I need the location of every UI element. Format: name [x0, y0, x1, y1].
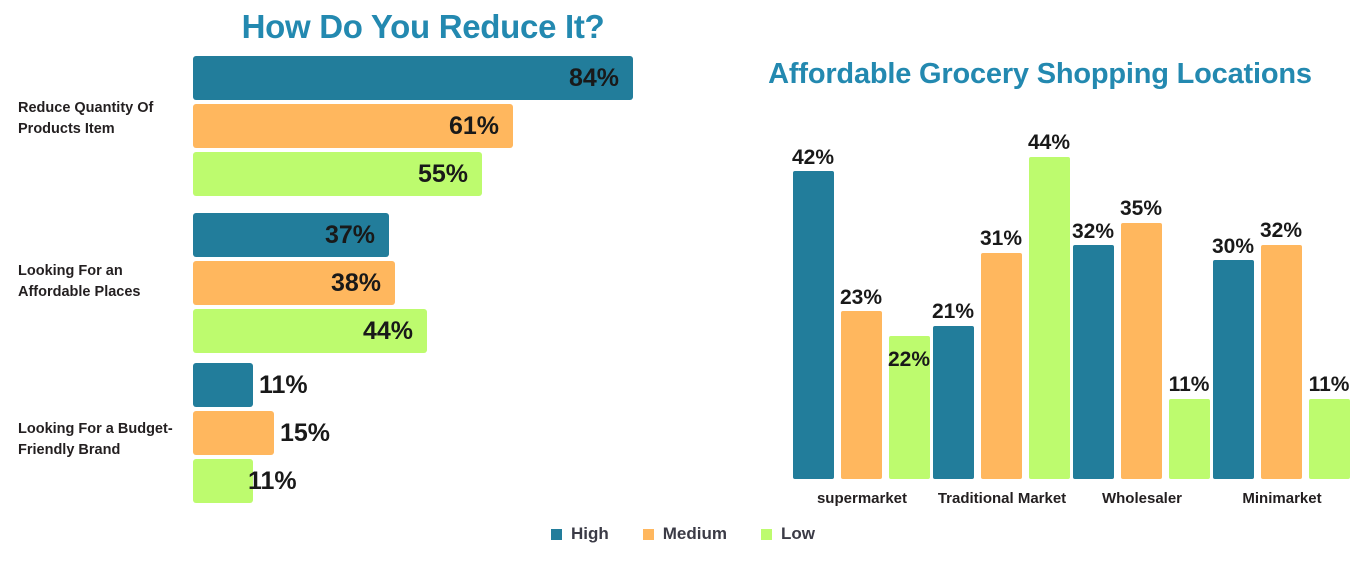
- left-bar-low-2[interactable]: 44%: [193, 309, 427, 353]
- right-group-traditional-market: 21% 31% 44% Traditional Market: [933, 0, 1073, 520]
- right-xlabel-minimarket: Minimarket: [1182, 490, 1366, 507]
- left-bar-value-medium-3: 15%: [280, 411, 330, 455]
- right-bar-low-minimarket[interactable]: [1309, 399, 1350, 479]
- left-category-label-3-line2: Friendly Brand: [18, 440, 198, 461]
- left-bar-value-low-2: 44%: [363, 309, 413, 353]
- left-bar-value-low-3: 11%: [248, 459, 297, 503]
- left-category-label-1-line2: Products Item: [18, 119, 198, 140]
- legend-item-medium[interactable]: Medium: [643, 524, 727, 544]
- right-value-medium-traditional-market: 31%: [966, 227, 1036, 251]
- left-bar-low-1[interactable]: 55%: [193, 152, 482, 196]
- left-bar-value-medium-2: 38%: [331, 261, 381, 305]
- right-group-supermarket: 42% 23% 22% supermarket: [793, 0, 933, 520]
- right-bar-high-supermarket[interactable]: [793, 171, 834, 479]
- right-bar-high-traditional-market[interactable]: [933, 326, 974, 479]
- right-group-wholesaler: 32% 35% 11% Wholesaler: [1073, 0, 1213, 520]
- left-bar-medium-1[interactable]: 61%: [193, 104, 513, 148]
- left-category-label-1-line1: Reduce Quantity Of: [18, 98, 198, 119]
- right-bar-medium-wholesaler[interactable]: [1121, 223, 1162, 479]
- right-bar-medium-minimarket[interactable]: [1261, 245, 1302, 479]
- shopping-locations-chart: Affordable Grocery Shopping Locations 42…: [700, 0, 1366, 520]
- right-value-high-wholesaler: 32%: [1058, 220, 1128, 244]
- legend-item-low[interactable]: Low: [761, 524, 815, 544]
- left-category-label-3-line1: Looking For a Budget-: [18, 419, 198, 440]
- left-bar-value-high-3: 11%: [259, 363, 308, 407]
- left-bar-value-high-2: 37%: [325, 213, 375, 257]
- left-bar-medium-3[interactable]: 15%: [193, 411, 274, 455]
- right-value-medium-minimarket: 32%: [1246, 219, 1316, 243]
- left-bar-high-3[interactable]: 11%: [193, 363, 253, 407]
- left-bar-value-high-1: 84%: [569, 56, 619, 100]
- right-bar-high-wholesaler[interactable]: [1073, 245, 1114, 479]
- right-value-medium-supermarket: 23%: [826, 286, 896, 310]
- legend-swatch-icon-low: [761, 529, 772, 540]
- legend-swatch-icon-high: [551, 529, 562, 540]
- right-bar-low-wholesaler[interactable]: [1169, 399, 1210, 479]
- left-bar-low-3[interactable]: 11%: [193, 459, 253, 503]
- right-bar-medium-traditional-market[interactable]: [981, 253, 1022, 479]
- right-value-high-traditional-market: 21%: [918, 300, 988, 324]
- right-bar-high-minimarket[interactable]: [1213, 260, 1254, 479]
- legend-label-medium: Medium: [663, 524, 727, 544]
- right-group-minimarket: 30% 32% 11% Minimarket: [1213, 0, 1353, 520]
- left-bar-value-medium-1: 61%: [449, 104, 499, 148]
- right-value-high-supermarket: 42%: [778, 146, 848, 170]
- left-chart-title: How Do You Reduce It?: [193, 8, 653, 46]
- left-bar-high-2[interactable]: 37%: [193, 213, 389, 257]
- left-category-label-2: Looking For an Affordable Places: [18, 261, 198, 303]
- left-category-label-2-line1: Looking For an: [18, 261, 198, 282]
- right-bar-medium-supermarket[interactable]: [841, 311, 882, 479]
- legend-label-high: High: [571, 524, 609, 544]
- left-bar-value-low-1: 55%: [418, 152, 468, 196]
- infographic-canvas: How Do You Reduce It? Reduce Quantity Of…: [0, 0, 1366, 580]
- right-value-low-minimarket: 11%: [1294, 373, 1364, 397]
- legend-item-high[interactable]: High: [551, 524, 609, 544]
- left-category-label-3: Looking For a Budget- Friendly Brand: [18, 419, 198, 461]
- legend-swatch-icon-medium: [643, 529, 654, 540]
- left-bar-high-1[interactable]: 84%: [193, 56, 633, 100]
- right-bar-low-traditional-market[interactable]: [1029, 157, 1070, 479]
- legend-label-low: Low: [781, 524, 815, 544]
- left-bar-medium-2[interactable]: 38%: [193, 261, 395, 305]
- left-category-label-1: Reduce Quantity Of Products Item: [18, 98, 198, 140]
- reduce-methods-chart: How Do You Reduce It? Reduce Quantity Of…: [0, 0, 700, 520]
- chart-legend: High Medium Low: [0, 524, 1366, 544]
- right-value-medium-wholesaler: 35%: [1106, 197, 1176, 221]
- left-category-label-2-line2: Affordable Places: [18, 282, 198, 303]
